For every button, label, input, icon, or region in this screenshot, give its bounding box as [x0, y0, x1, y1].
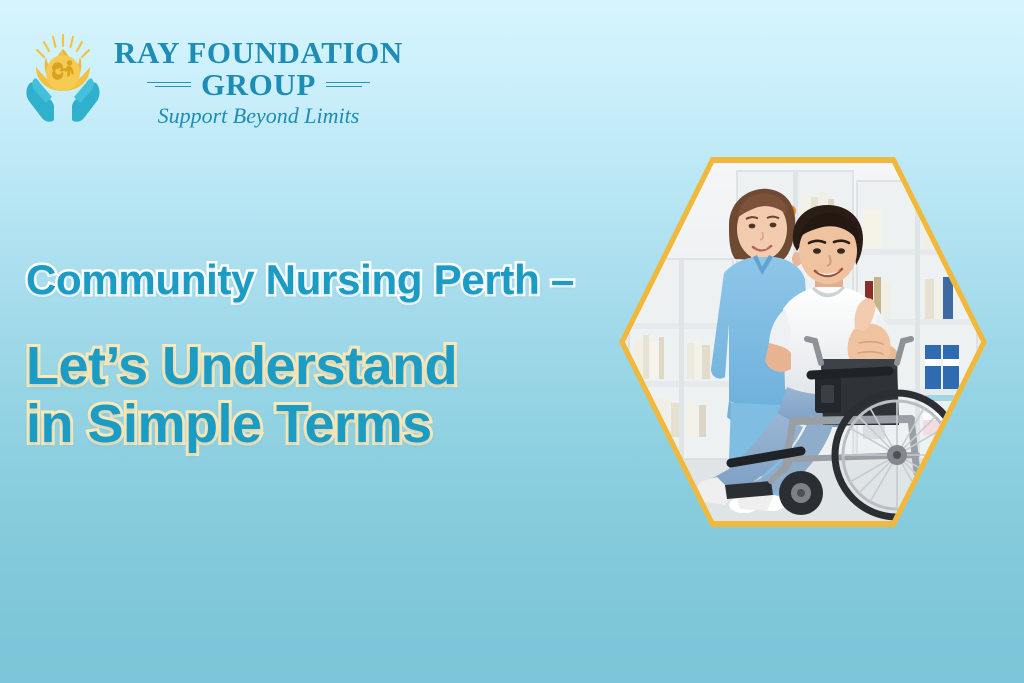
logo-rule-right [326, 81, 370, 88]
headline-line-1: Community Nursing Perth – [26, 258, 626, 303]
brand-wordmark: RAY FOUNDATION GROUP Support Beyond Limi… [114, 33, 403, 127]
hero-image-hexagon-frame [619, 157, 987, 527]
headline-group: Community Nursing Perth – Let’s Understa… [26, 258, 626, 454]
brand-name-line-2: GROUP [201, 69, 316, 100]
nurse-and-wheelchair-user-photo [625, 163, 981, 521]
brand-name-line-1: RAY FOUNDATION [114, 37, 403, 68]
brand-tagline: Support Beyond Limits [158, 105, 360, 127]
headline-line-2a: Let’s Understand [26, 337, 626, 396]
brand-logo[interactable]: RAY FOUNDATION GROUP Support Beyond Limi… [22, 33, 403, 127]
hero-image-clip [625, 163, 981, 521]
headline-line-2: Let’s Understand in Simple Terms [26, 337, 626, 455]
headline-line-2b: in Simple Terms [26, 395, 626, 454]
hands-holding-lotus-wheelchair-icon [22, 33, 104, 125]
promotional-banner: RAY FOUNDATION GROUP Support Beyond Limi… [0, 0, 1024, 683]
logo-rule-left [147, 81, 191, 88]
